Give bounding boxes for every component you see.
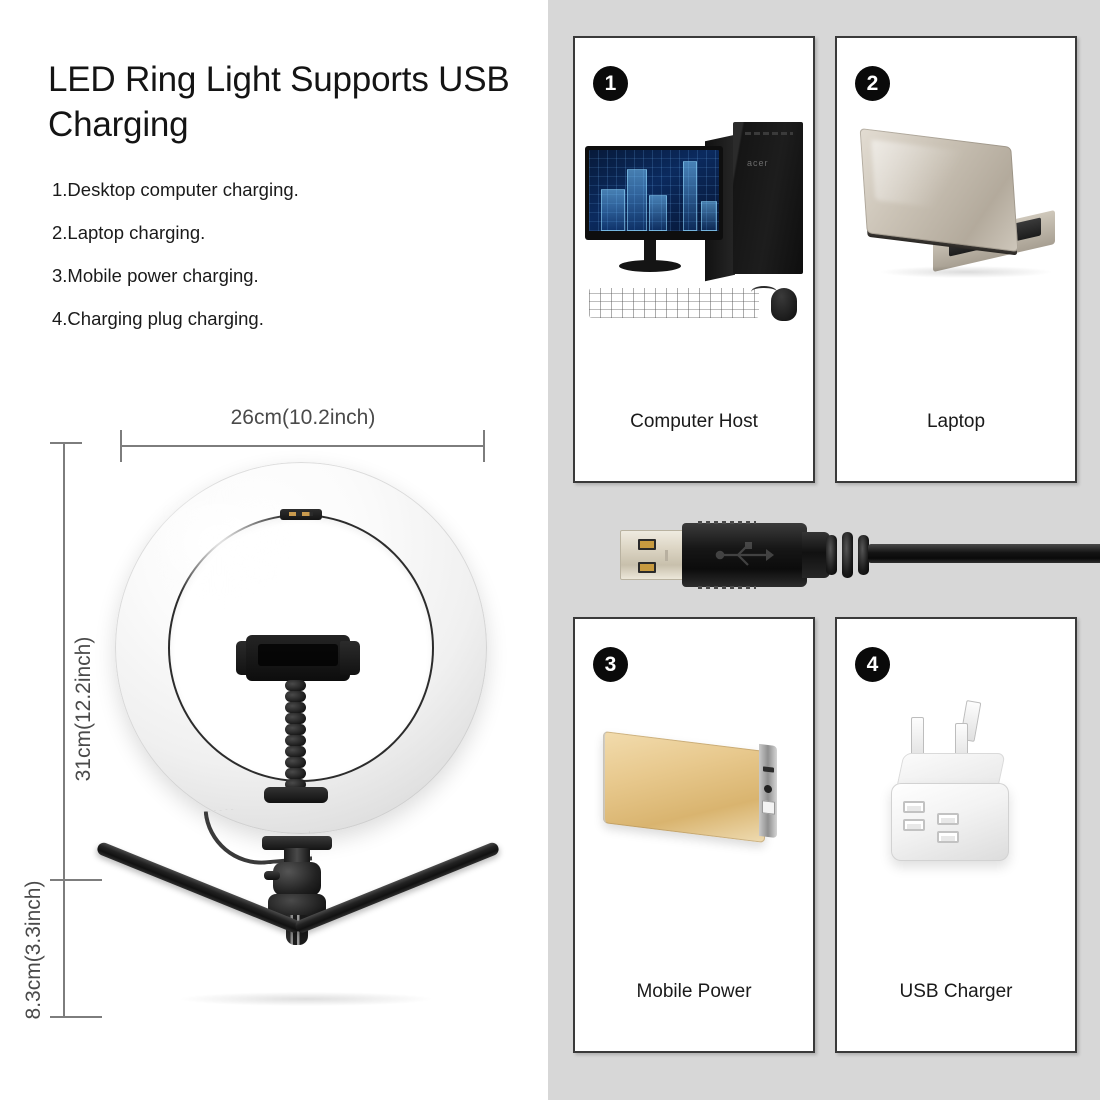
tripod-ball-head xyxy=(273,862,321,896)
monitor-screen xyxy=(589,150,719,231)
step-badge: 4 xyxy=(855,647,890,682)
usb-contact-pin xyxy=(638,562,656,573)
screen-building xyxy=(701,201,717,231)
ring-light-highlight xyxy=(144,482,294,602)
list-item: 1.Desktop computer charging. xyxy=(52,178,512,201)
usb-cable xyxy=(868,544,1100,563)
card-caption: Laptop xyxy=(837,411,1075,433)
width-dimension-label: 26cm(10.2inch) xyxy=(120,406,486,430)
charger-usb-port xyxy=(903,801,925,813)
laptop-shadow xyxy=(881,266,1051,278)
monitor xyxy=(585,146,723,240)
gooseneck-segment xyxy=(285,768,306,779)
usb-strain-relief-ring xyxy=(826,535,837,575)
usb-trident-icon xyxy=(712,538,778,572)
usb-grip-ridges-bottom xyxy=(698,586,756,589)
width-dimension-line xyxy=(121,445,485,447)
charger-certification-marks xyxy=(921,743,967,763)
step-badge: 3 xyxy=(593,647,628,682)
card-caption: Computer Host xyxy=(575,411,813,433)
device-card-mobile-power[interactable]: 3 Mobile Power xyxy=(573,617,815,1053)
usb-type-a-connector xyxy=(620,508,1100,598)
tower-brand-logo: acer xyxy=(747,158,787,168)
tripod-leg-right xyxy=(294,841,501,935)
ring-light-product-image xyxy=(86,452,526,1052)
tripod-lock-knob xyxy=(264,871,280,880)
step-badge: 1 xyxy=(593,66,628,101)
screen-building xyxy=(649,195,667,231)
left-content-pane: LED Ring Light Supports USB Charging 1.D… xyxy=(0,0,548,1100)
usb-grip-ridges-top xyxy=(698,521,756,524)
gooseneck-arm xyxy=(285,680,306,792)
screen-building xyxy=(601,189,625,231)
laptop-icon xyxy=(837,116,1075,386)
card-caption: USB Charger xyxy=(837,981,1075,1003)
gooseneck-segment xyxy=(285,735,306,746)
screen-building xyxy=(627,169,647,231)
infographic-root: LED Ring Light Supports USB Charging 1.D… xyxy=(0,0,1100,1100)
usb-strain-relief-ring xyxy=(842,532,853,578)
charger-usb-port xyxy=(937,813,959,825)
monitor-stand-base xyxy=(619,260,681,272)
step-badge: 2 xyxy=(855,66,890,101)
tower-front xyxy=(733,122,803,274)
height-dimension-tick-top xyxy=(50,442,82,444)
gooseneck-segment xyxy=(285,713,306,724)
laptop-lid-highlight xyxy=(871,139,975,212)
mouse xyxy=(771,288,797,321)
clamp-jaw-right xyxy=(340,641,360,675)
gooseneck-segment xyxy=(285,757,306,768)
page-title: LED Ring Light Supports USB Charging xyxy=(48,58,518,148)
list-item: 4.Charging plug charging. xyxy=(52,307,512,330)
gooseneck-segment xyxy=(285,724,306,735)
usb-wall-charger-icon xyxy=(837,697,1075,967)
usb-contact-pin xyxy=(638,539,656,550)
ring-light-contact-pins xyxy=(289,512,313,516)
gooseneck-segment xyxy=(285,702,306,713)
charger-usb-port xyxy=(937,831,959,843)
device-card-laptop[interactable]: 2 Laptop xyxy=(835,36,1077,483)
gooseneck-base xyxy=(264,787,328,803)
compatible-devices-panel: 1 acer xyxy=(548,0,1100,1100)
monitor-stand-neck xyxy=(644,240,656,262)
device-card-computer-host[interactable]: 1 acer xyxy=(573,36,815,483)
tripod-height-dimension-label: 8.3cm(3.3inch) xyxy=(22,810,46,1090)
power-bank-icon xyxy=(575,697,813,967)
power-bank-usb-port xyxy=(762,800,775,815)
tower-drive-bay xyxy=(745,132,793,135)
phone-holder-clamp xyxy=(236,635,360,681)
usb-notch xyxy=(665,550,668,561)
card-caption: Mobile Power xyxy=(575,981,813,1003)
charger-usb-port xyxy=(903,819,925,831)
product-shadow xyxy=(181,992,431,1006)
keyboard xyxy=(589,288,759,318)
list-item: 3.Mobile power charging. xyxy=(52,264,512,287)
gooseneck-segment xyxy=(285,746,306,757)
feature-list: 1.Desktop computer charging. 2.Laptop ch… xyxy=(52,178,512,351)
height-dimension-line xyxy=(63,443,65,1018)
device-card-usb-charger[interactable]: 4 USB Charger xyxy=(835,617,1077,1053)
gooseneck-segment xyxy=(285,691,306,702)
power-bank-edge-highlight xyxy=(603,731,765,843)
list-item: 2.Laptop charging. xyxy=(52,221,512,244)
screen-building xyxy=(683,161,697,231)
power-bank-button xyxy=(764,785,772,794)
gooseneck-segment xyxy=(285,680,306,691)
desktop-computer-icon: acer xyxy=(575,116,813,386)
clamp-slot xyxy=(258,644,338,666)
